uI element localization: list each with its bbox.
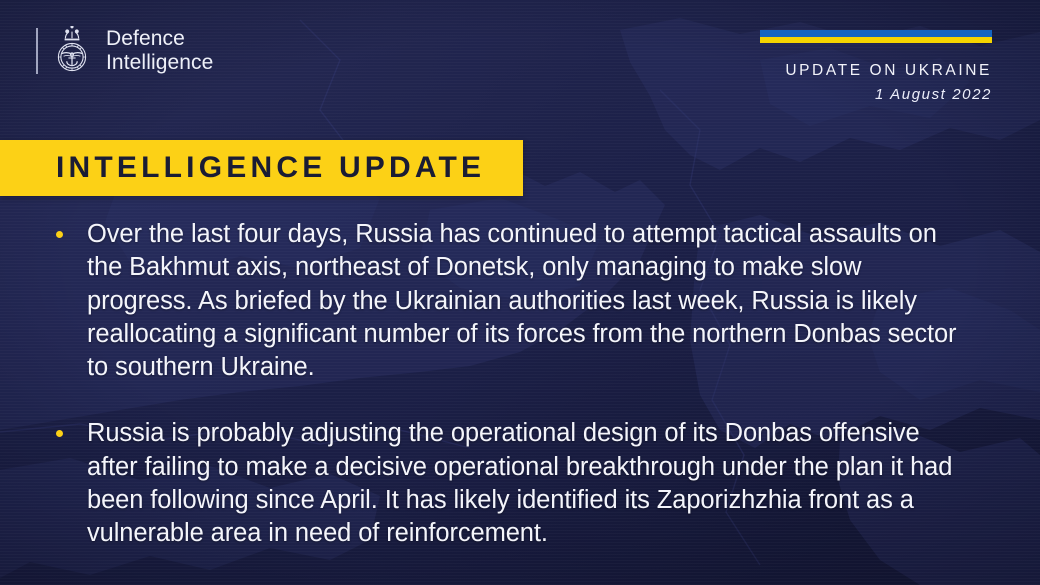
body-content: Over the last four days, Russia has cont… bbox=[56, 218, 968, 550]
bullet-paragraph: Russia is probably adjusting the operati… bbox=[87, 417, 968, 550]
brand-wordmark: Defence Intelligence bbox=[106, 27, 213, 76]
header-right-block: UPDATE ON UKRAINE 1 August 2022 bbox=[760, 30, 992, 104]
yellow-dot-bullet-icon bbox=[56, 430, 63, 437]
intelligence-update-poster: Defence Intelligence UPDATE ON UKRAINE 1… bbox=[0, 0, 1040, 585]
yellow-dot-bullet-icon bbox=[56, 231, 63, 238]
banner-title: INTELLIGENCE UPDATE bbox=[0, 153, 485, 183]
bullet-paragraph: Over the last four days, Russia has cont… bbox=[87, 218, 968, 384]
header-date: 1 August 2022 bbox=[760, 86, 992, 104]
intelligence-update-banner: INTELLIGENCE UPDATE bbox=[0, 140, 523, 196]
flag-yellow-stripe bbox=[760, 37, 992, 44]
brand-lockup: Defence Intelligence bbox=[36, 26, 213, 76]
defence-intelligence-crest-icon bbox=[49, 26, 95, 76]
ukraine-flag-bar-icon bbox=[760, 30, 992, 43]
header-kicker: UPDATE ON UKRAINE bbox=[760, 62, 992, 81]
list-item: Over the last four days, Russia has cont… bbox=[56, 218, 968, 384]
brand-divider bbox=[36, 28, 38, 74]
list-item: Russia is probably adjusting the operati… bbox=[56, 417, 968, 550]
